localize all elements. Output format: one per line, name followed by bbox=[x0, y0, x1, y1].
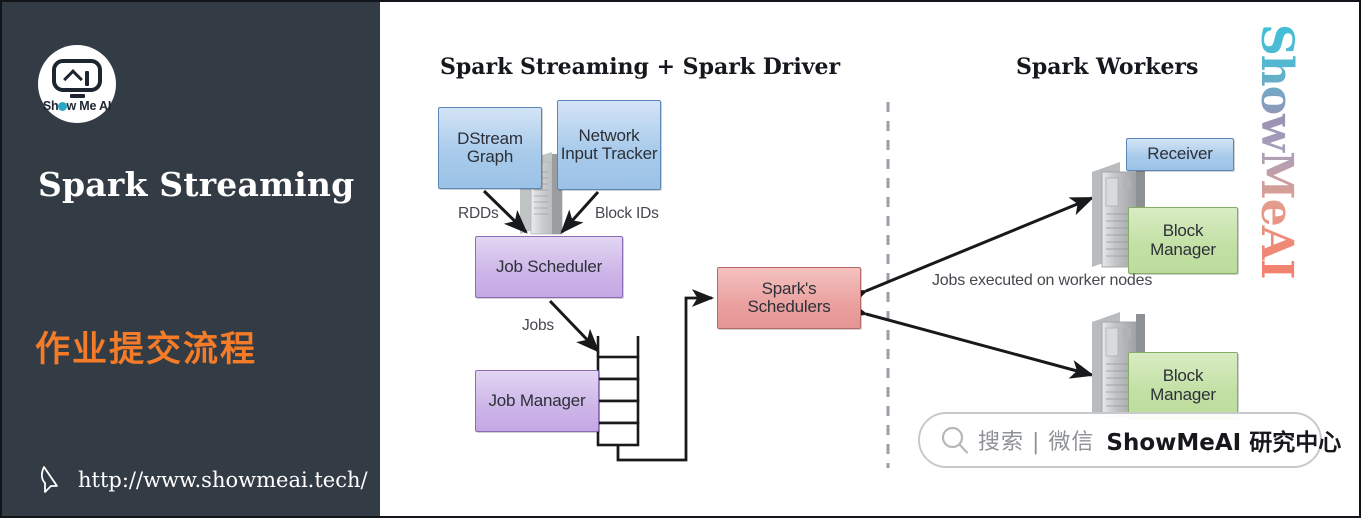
node-job-manager[interactable]: Job Manager bbox=[475, 370, 599, 432]
logo-label: Shw Me AI bbox=[38, 99, 116, 113]
node-sparks-schedulers[interactable]: Spark's Schedulers bbox=[717, 267, 861, 329]
arrow-nit-to-jobscheduler bbox=[562, 192, 598, 232]
watermark-brand-text: ShowMeAI 研究中心 bbox=[1106, 423, 1341, 457]
node-receiver[interactable]: Receiver bbox=[1126, 138, 1234, 171]
edge-label-block-ids: Block IDs bbox=[595, 205, 659, 223]
edge-label-jobs-executed: Jobs executed on worker nodes bbox=[932, 270, 1152, 292]
node-job-scheduler[interactable]: Job Scheduler bbox=[475, 236, 623, 298]
node-network-input-tracker[interactable]: Network Input Tracker bbox=[557, 100, 661, 190]
showmeai-logo-icon: Shw Me AI bbox=[38, 45, 116, 123]
vertical-watermark: ShowMeAI bbox=[1278, 24, 1326, 284]
node-dstream-graph[interactable]: DStream Graph bbox=[438, 107, 542, 189]
node-block-manager-1[interactable]: Block Manager bbox=[1128, 207, 1238, 274]
logo-eye-icon bbox=[58, 102, 67, 111]
site-url[interactable]: http://www.showmeai.tech/ bbox=[78, 468, 368, 492]
spark-streaming-architecture-diagram: Spark Streaming + Spark Driver Spark Wor… bbox=[380, 2, 1361, 518]
footer-url-row: http://www.showmeai.tech/ bbox=[40, 465, 368, 495]
edge-label-rdds: RDDs bbox=[458, 205, 499, 223]
edge-label-jobs: Jobs bbox=[522, 317, 554, 335]
robot-head-icon bbox=[52, 59, 102, 92]
arrow-jobqueue-to-sparkschedulers bbox=[618, 298, 712, 460]
node-block-manager-2[interactable]: Block Manager bbox=[1128, 352, 1238, 419]
chevron-up-icon bbox=[63, 69, 83, 89]
logo-bar-icon bbox=[85, 71, 89, 86]
watermark-search-bar: 搜索 | 微信 ShowMeAI 研究中心 bbox=[918, 412, 1322, 468]
screenshot-root: Shw Me AI Spark Streaming 作业提交流程 http://… bbox=[0, 0, 1361, 518]
robot-neck-icon bbox=[70, 94, 85, 98]
mouse-cursor-icon bbox=[40, 465, 66, 495]
main-canvas: Spark Streaming + Spark Driver Spark Wor… bbox=[380, 2, 1361, 518]
edge-label-jobs-executed-line1: Jobs executed on worker nodes bbox=[932, 272, 1152, 289]
section-title-workers: Spark Workers bbox=[1016, 54, 1198, 80]
search-icon bbox=[938, 423, 972, 457]
vertical-watermark-text: ShowMeAI bbox=[1251, 24, 1302, 278]
sidebar: Shw Me AI Spark Streaming 作业提交流程 http://… bbox=[2, 2, 380, 518]
section-title-driver: Spark Streaming + Spark Driver bbox=[440, 54, 840, 80]
job-queue-stack bbox=[598, 336, 638, 445]
page-subtitle: 作业提交流程 bbox=[35, 321, 257, 372]
watermark-search-text: 搜索 | 微信 bbox=[978, 424, 1094, 456]
arrow-jobscheduler-to-jobqueue bbox=[550, 301, 598, 351]
page-title: Spark Streaming bbox=[38, 165, 354, 204]
job-queue-label-wrap: Job Queue bbox=[636, 347, 656, 457]
arrow-schedulers-worker2 bbox=[866, 314, 1092, 375]
